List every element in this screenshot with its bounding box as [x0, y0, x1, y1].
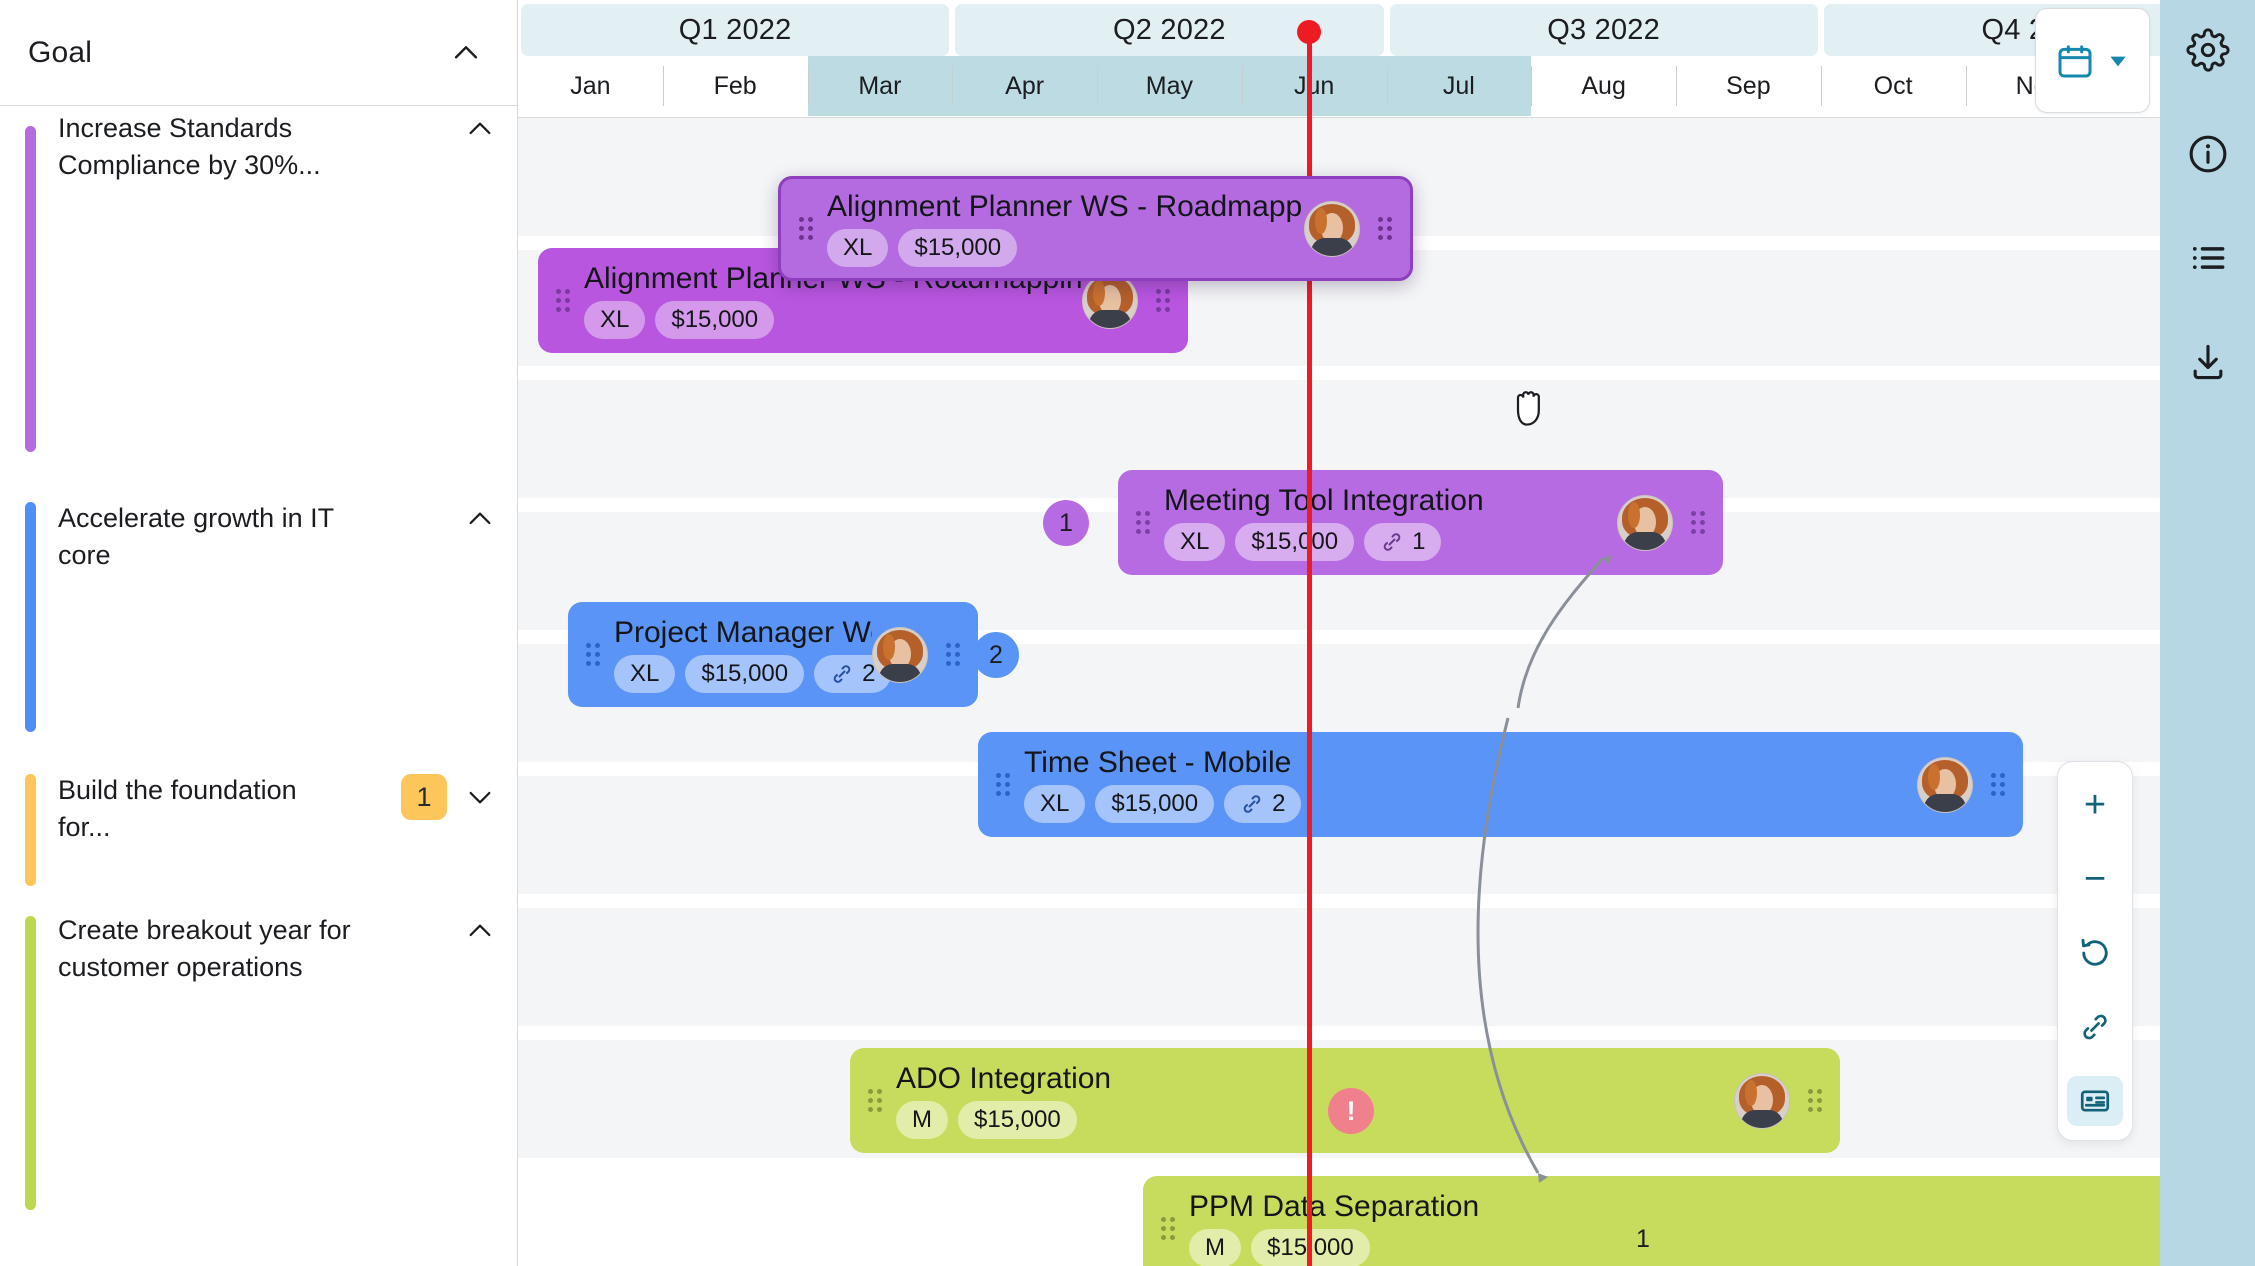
- caret-down-icon: [2105, 48, 2131, 74]
- zoom-in-label: +: [2084, 786, 2106, 824]
- chevron-down-icon: [464, 781, 496, 813]
- dependency-badge[interactable]: 2: [973, 632, 1019, 678]
- avatar: [1917, 757, 1973, 813]
- cost-chip: $15,000: [958, 1101, 1077, 1139]
- reset-icon: [2077, 935, 2113, 971]
- month-cell-jul[interactable]: Jul: [1387, 56, 1532, 116]
- task-title: ADO Integration: [896, 1062, 1734, 1095]
- task-title: Time Sheet - Mobile: [1024, 746, 1917, 779]
- information-button[interactable]: [2180, 126, 2236, 182]
- size-chip: M: [1189, 1229, 1241, 1266]
- task-chips: XL $15,000 2: [1024, 785, 1917, 823]
- chevron-up-icon: [464, 915, 496, 947]
- month-cell-may[interactable]: May: [1097, 56, 1242, 116]
- drag-handle-left[interactable]: [799, 217, 817, 240]
- list-icon: [2186, 236, 2230, 280]
- resize-handle-right[interactable]: [1156, 289, 1174, 312]
- sidebar-item-build-foundation[interactable]: Build the foundation for... 1: [0, 768, 517, 908]
- goal-color-bar: [25, 916, 36, 1210]
- task-bar-meeting-tool-integration[interactable]: Meeting Tool Integration XL $15,000 1: [1118, 470, 1723, 575]
- month-cell-oct[interactable]: Oct: [1821, 56, 1966, 116]
- info-icon: [2186, 132, 2230, 176]
- month-row: Jan Feb Mar Apr May Jun Jul Aug Sep Oct …: [518, 56, 2255, 116]
- task-title: Meeting Tool Integration: [1164, 484, 1617, 517]
- page-title: Goal: [28, 36, 92, 70]
- reset-view-button[interactable]: [2067, 928, 2123, 978]
- resize-handle-right[interactable]: [1378, 217, 1396, 240]
- links-chip: 2: [1224, 785, 1301, 823]
- task-title: PPM Data Separation: [1189, 1190, 2193, 1223]
- sidebar-item-label: Create breakout year for customer operat…: [58, 908, 378, 987]
- task-title: Alignment Planner WS - Roadmapping: [827, 190, 1304, 223]
- size-chip: XL: [1024, 785, 1085, 823]
- size-chip: XL: [1164, 523, 1225, 561]
- dependency-badge[interactable]: 1: [1043, 500, 1089, 546]
- sidebar-item-increase-standards[interactable]: Increase Standards Compliance by 30%...: [0, 106, 517, 496]
- drag-handle-left[interactable]: [586, 643, 604, 666]
- zoom-out-button[interactable]: −: [2067, 854, 2123, 904]
- size-chip: XL: [584, 301, 645, 339]
- links-count: 2: [1272, 790, 1285, 818]
- month-cell-feb[interactable]: Feb: [663, 56, 808, 116]
- task-chips: XL $15,000: [827, 229, 1304, 267]
- card-view-icon: [2078, 1084, 2112, 1118]
- cost-chip: $15,000: [655, 301, 774, 339]
- cost-chip: $15,000: [685, 655, 804, 693]
- sidebar-collapse-toggle[interactable]: [449, 36, 483, 70]
- resize-handle-right[interactable]: [1991, 773, 2009, 796]
- drag-handle-left[interactable]: [1136, 511, 1154, 534]
- task-chips: XL $15,000 1: [1164, 523, 1617, 561]
- links-chip: 1: [1364, 523, 1441, 561]
- sidebar-item-create-breakout-year[interactable]: Create breakout year for customer operat…: [0, 908, 517, 1238]
- right-tool-rail: [2160, 0, 2255, 1266]
- toggle-dependencies-button[interactable]: [2067, 1002, 2123, 1052]
- size-chip: M: [896, 1101, 948, 1139]
- status-badge: 1: [401, 774, 447, 820]
- goal-list: Increase Standards Compliance by 30%... …: [0, 106, 517, 1238]
- resize-handle-right[interactable]: [1691, 511, 1709, 534]
- size-chip: XL: [614, 655, 675, 693]
- cost-chip: $15,000: [1095, 785, 1214, 823]
- task-chips: M $15,000: [896, 1101, 1734, 1139]
- today-marker-dot: [1297, 20, 1321, 44]
- quarter-cell[interactable]: Q1 2022: [521, 4, 949, 56]
- link-icon: [1240, 792, 1264, 816]
- goal-expand-toggle[interactable]: [463, 780, 497, 814]
- timeline-header: Q1 2022 Q2 2022 Q3 2022 Q4 2022 Jan Feb …: [518, 0, 2255, 118]
- month-cell-apr[interactable]: Apr: [952, 56, 1097, 116]
- task-bar-project-manager-wo[interactable]: Project Manager Wo. XL $15,000 2: [568, 602, 978, 707]
- link-icon: [2078, 1010, 2112, 1044]
- task-warning-badge[interactable]: !: [1328, 1088, 1374, 1134]
- download-icon: [2186, 340, 2230, 384]
- task-bar-alignment-planner-dragging[interactable]: Alignment Planner WS - Roadmapping XL $1…: [778, 176, 1413, 281]
- goal-color-bar: [25, 502, 36, 732]
- download-button[interactable]: [2180, 334, 2236, 390]
- month-cell-mar[interactable]: Mar: [808, 56, 953, 116]
- resize-handle-right[interactable]: [946, 643, 964, 666]
- cost-chip: $15,000: [1235, 523, 1354, 561]
- resize-handle-right[interactable]: [1808, 1089, 1826, 1112]
- timeline-panel: Q1 2022 Q2 2022 Q3 2022 Q4 2022 Jan Feb …: [518, 0, 2255, 1266]
- cost-chip: $15,000: [898, 229, 1017, 267]
- goal-color-bar: [25, 774, 36, 886]
- task-chips: XL $15,000: [584, 301, 1082, 339]
- drag-handle-left[interactable]: [996, 773, 1014, 796]
- drag-handle-left[interactable]: [556, 289, 574, 312]
- settings-button[interactable]: [2180, 22, 2236, 78]
- avatar: [1617, 495, 1673, 551]
- goal-collapse-toggle[interactable]: [463, 502, 497, 536]
- month-cell-jun[interactable]: Jun: [1242, 56, 1387, 116]
- drag-handle-left[interactable]: [1161, 1217, 1179, 1240]
- list-view-button[interactable]: [2180, 230, 2236, 286]
- task-chips: XL $15,000 2: [614, 655, 872, 693]
- quarter-cell[interactable]: Q3 2022: [1390, 4, 1818, 56]
- chevron-up-icon: [464, 113, 496, 145]
- zoom-control-panel: + −: [2057, 761, 2133, 1141]
- sidebar-header: Goal: [0, 0, 517, 106]
- month-cell-aug[interactable]: Aug: [1531, 56, 1676, 116]
- sidebar-item-label: Increase Standards Compliance by 30%...: [58, 106, 378, 185]
- goal-collapse-toggle[interactable]: [463, 112, 497, 146]
- table-row: [518, 908, 2255, 1026]
- quarter-row: Q1 2022 Q2 2022 Q3 2022 Q4 2022: [518, 0, 2255, 56]
- zoom-out-label: −: [2084, 860, 2106, 898]
- sidebar-item-label: Accelerate growth in IT core: [58, 496, 378, 575]
- timeline-body: Alignment Planner WS - Roadmapping XL $1…: [518, 118, 2255, 1266]
- goal-color-bar: [25, 126, 36, 452]
- zoom-in-button[interactable]: +: [2067, 780, 2123, 830]
- avatar: [1304, 201, 1360, 257]
- drag-handle-left[interactable]: [868, 1089, 886, 1112]
- sidebar-item-label: Build the foundation for...: [58, 768, 348, 847]
- chevron-up-icon: [449, 36, 483, 70]
- sidebar-item-accelerate-growth[interactable]: Accelerate growth in IT core: [0, 496, 517, 768]
- avatar: [872, 627, 928, 683]
- calendar-range-button[interactable]: [2035, 8, 2150, 113]
- goal-sidebar: Goal Increase Standards Compliance by 30…: [0, 0, 518, 1266]
- today-line: [1307, 118, 1312, 1266]
- toggle-card-details-button[interactable]: [2067, 1076, 2123, 1126]
- month-cell-jan[interactable]: Jan: [518, 56, 663, 116]
- task-bar-time-sheet-mobile[interactable]: Time Sheet - Mobile XL $15,000 2: [978, 732, 2023, 837]
- chevron-up-icon: [464, 503, 496, 535]
- link-icon: [1380, 530, 1404, 554]
- task-chips: M $15,000: [1189, 1229, 2193, 1266]
- task-title: Project Manager Wo.: [614, 616, 872, 649]
- dependency-badge[interactable]: 1: [1620, 1216, 1666, 1262]
- roadmap-app: Goal Increase Standards Compliance by 30…: [0, 0, 2255, 1266]
- links-count: 1: [1412, 528, 1425, 556]
- link-icon: [830, 662, 854, 686]
- month-cell-sep[interactable]: Sep: [1676, 56, 1821, 116]
- avatar: [1734, 1073, 1790, 1129]
- size-chip: XL: [827, 229, 888, 267]
- goal-collapse-toggle[interactable]: [463, 914, 497, 948]
- gear-icon: [2186, 28, 2230, 72]
- calendar-icon: [2055, 41, 2095, 81]
